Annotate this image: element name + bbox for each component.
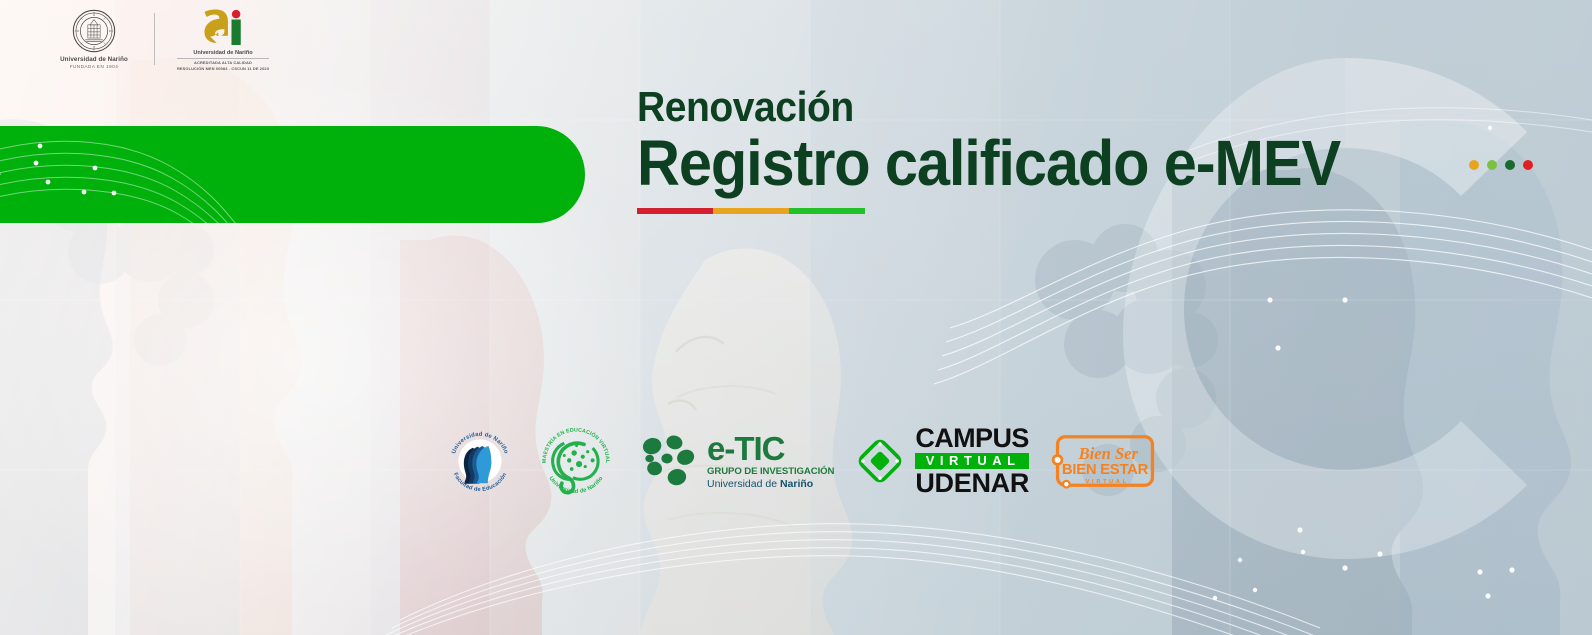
header-divider — [154, 13, 155, 65]
campus-text: CAMPUS VIRTUAL UDENAR — [915, 425, 1029, 497]
etic-text: e-TIC GRUPO DE INVESTIGACIÓN Universidad… — [707, 432, 834, 489]
campus-line-bottom: UDENAR — [915, 470, 1029, 497]
campus-virtual-logo: CAMPUS VIRTUAL UDENAR — [854, 425, 1029, 497]
underline-segment-red — [637, 208, 713, 214]
etic-subtitle: GRUPO DE INVESTIGACIÓN — [707, 467, 834, 477]
svg-text:Bien Ser: Bien Ser — [1078, 444, 1139, 463]
accreditation-line1: ACREDITADA ALTA CALIDAD — [194, 60, 252, 65]
maestria-brain-icon: MAESTRÍA EN EDUCACIÓN VIRTUAL Universida… — [536, 420, 616, 502]
title-kicker: Renovación — [637, 86, 1340, 128]
accreditation-ai-icon — [196, 8, 250, 48]
title-headline: Registro calificado e-MEV — [637, 130, 1340, 198]
dot-light-green — [1487, 160, 1497, 170]
header-logos: Universidad de Nariño FUNDADA EN 1904 Un… — [48, 8, 277, 71]
campus-line-mid: VIRTUAL — [915, 453, 1029, 469]
etic-university-bold: Nariño — [780, 478, 813, 490]
svg-text:BIEN ESTAR: BIEN ESTAR — [1062, 462, 1149, 478]
faculty-seal-icon: Universidad de Nariño Facultad de Educac… — [444, 425, 516, 497]
dot-red — [1523, 160, 1533, 170]
etic-university-prefix: Universidad de — [707, 478, 780, 490]
crest-name: Universidad de Nariño — [60, 56, 128, 63]
etic-cluster-icon — [636, 430, 698, 492]
accent-dots — [1469, 160, 1533, 170]
banner-root: Universidad de Nariño FUNDADA EN 1904 Un… — [0, 0, 1592, 635]
accreditation-name: Universidad de Nariño — [193, 50, 252, 56]
underline-segment-amber — [713, 208, 789, 214]
title-block: Renovación Registro calificado e-MEV — [637, 86, 1393, 214]
university-crest-icon — [72, 9, 116, 53]
green-accent-bar — [0, 126, 585, 223]
dot-amber — [1469, 160, 1479, 170]
accreditation-logo: Universidad de Nariño ACREDITADA ALTA CA… — [169, 8, 277, 71]
accreditation-rule — [177, 58, 269, 59]
campus-line-top: CAMPUS — [915, 425, 1029, 452]
etic-logo: e-TIC GRUPO DE INVESTIGACIÓN Universidad… — [636, 430, 834, 492]
campus-diamond-icon — [854, 435, 906, 487]
etic-title: e-TIC — [707, 432, 834, 465]
dot-dark-green — [1505, 160, 1515, 170]
underline-segment-green — [789, 208, 865, 214]
svg-text:VIRTUAL: VIRTUAL — [1086, 479, 1129, 485]
partner-logos: Universidad de Nariño Facultad de Educac… — [444, 418, 1161, 504]
accreditation-line2: RESOLUCIÓN MEN 00983 - CSCUN 11 DE 2023 — [177, 66, 269, 71]
title-underline — [637, 208, 865, 214]
university-crest-logo: Universidad de Nariño FUNDADA EN 1904 — [48, 9, 140, 69]
etic-university: Universidad de Nariño — [707, 479, 834, 490]
bienestar-badge-icon: Bien Ser BIEN ESTAR VIRTUAL — [1049, 429, 1161, 493]
crest-subtitle: FUNDADA EN 1904 — [70, 64, 119, 69]
